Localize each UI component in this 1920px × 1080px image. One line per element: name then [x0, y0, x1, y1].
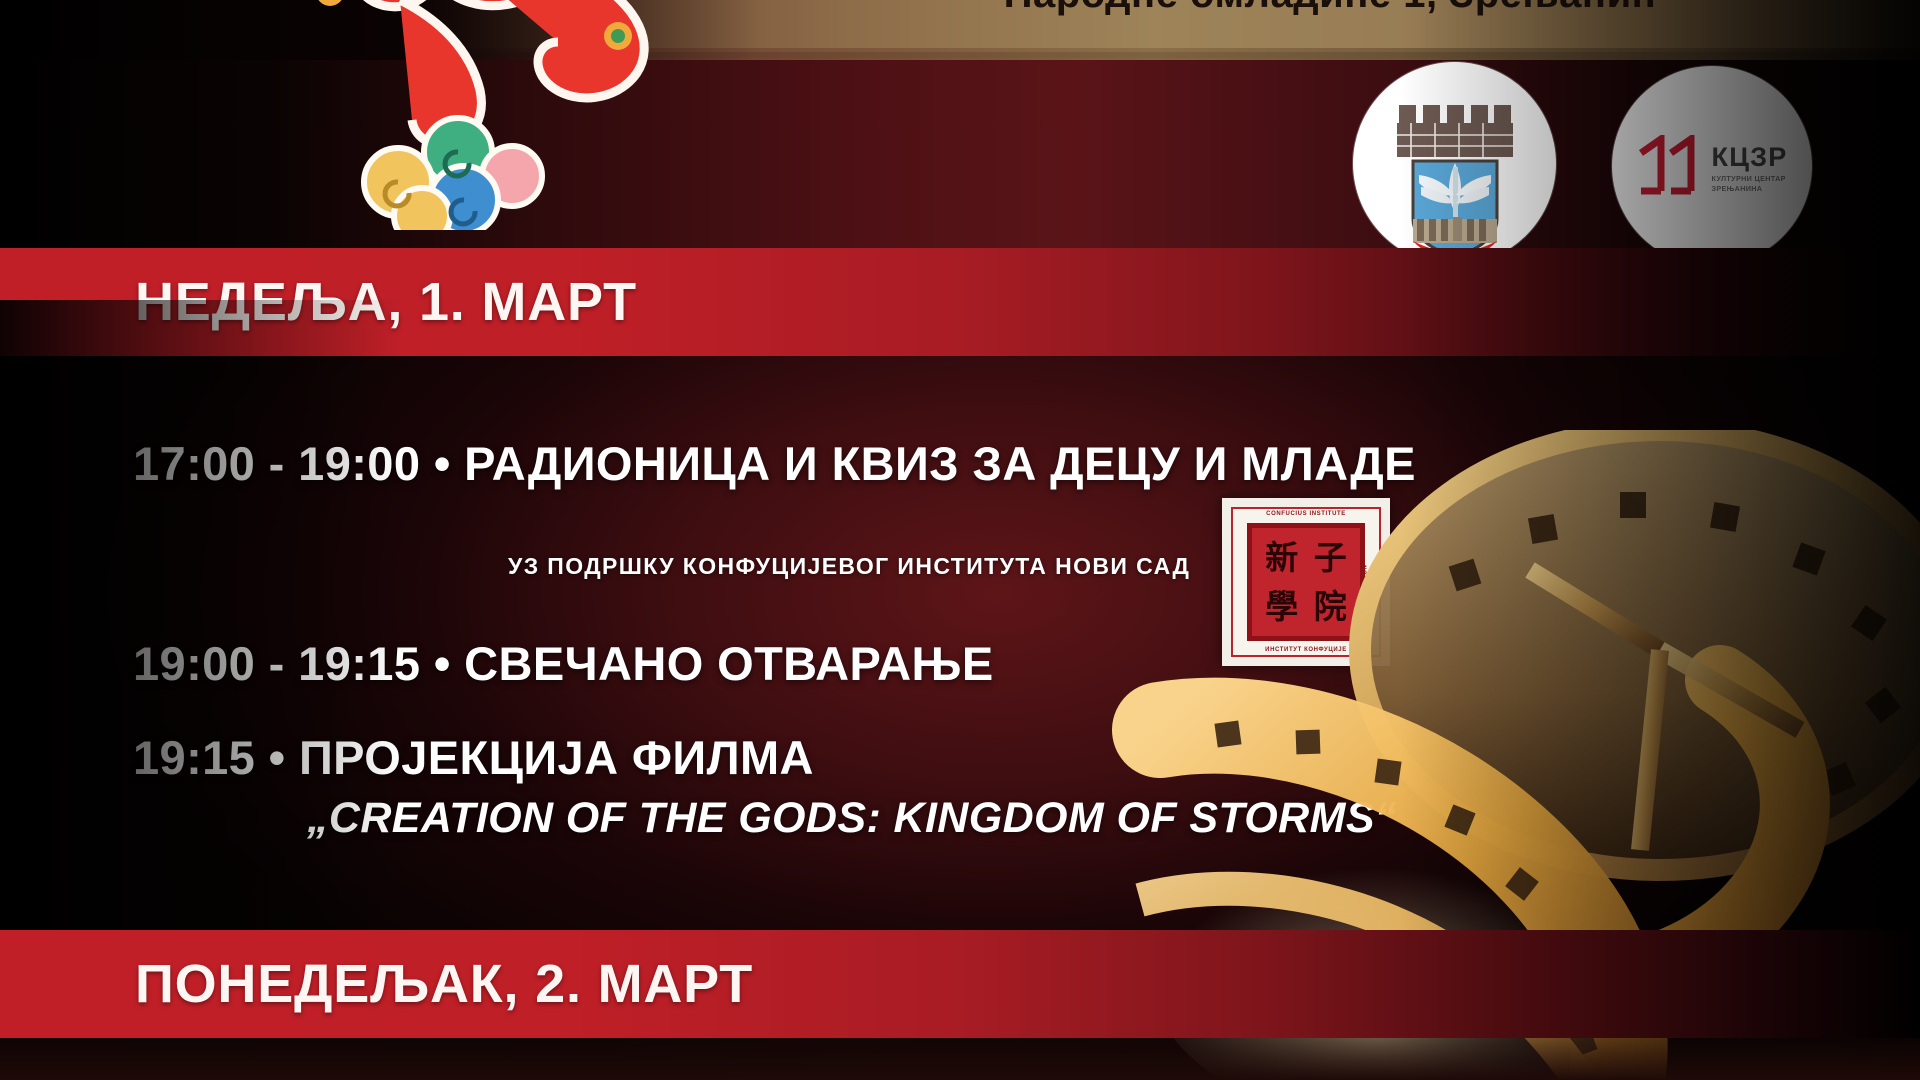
schedule-item-workshop-note: УЗ ПОДРШКУ КОНФУЦИЈЕВОГ ИНСТИТУТА НОВИ С… — [508, 553, 1190, 580]
day-label-monday: ПОНЕДЕЉАК, 2. МАРТ — [135, 953, 753, 1015]
day-header-monday: ПОНЕДЕЉАК, 2. МАРТ — [0, 930, 1920, 1038]
vignette-left — [0, 300, 400, 940]
event-poster: Народне омладине 1, Зрењанин — [0, 0, 1920, 1080]
chinese-dragon-icon — [150, 0, 750, 230]
vignette-right — [1400, 0, 1920, 1080]
